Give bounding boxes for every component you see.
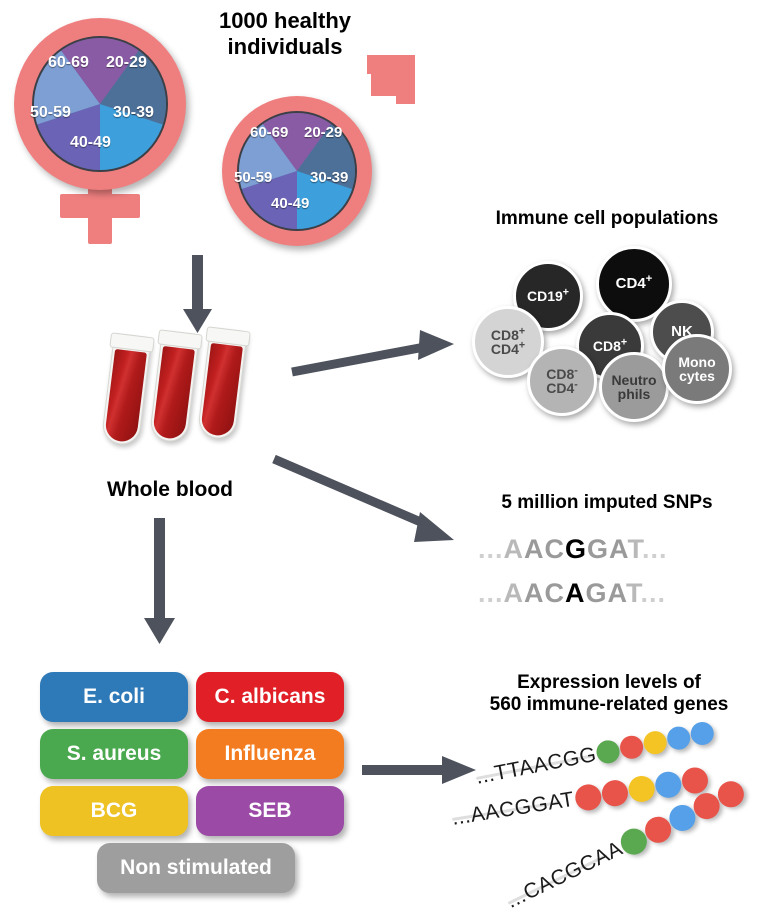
stimulus-pill-non-stimulated[interactable]: Non stimulated — [97, 843, 295, 893]
stimulus-label: BCG — [91, 799, 138, 823]
strand-sequence: ...AACGGAT — [450, 788, 576, 831]
stimulus-label: Influenza — [224, 742, 315, 766]
snp-sequence: ...AACGGAT... — [478, 534, 668, 565]
immune-cell-label: CD8+ — [593, 339, 627, 353]
immune-cell-label: CD8-CD4- — [546, 367, 578, 396]
stimulus-pill-e-coli[interactable]: E. coli — [40, 672, 188, 722]
snp-title: 5 million imputed SNPs — [452, 492, 762, 514]
expression-title: Expression levels of 560 immune-related … — [450, 672, 768, 717]
gene-bead — [573, 783, 603, 813]
gene-bead — [619, 734, 646, 761]
stimulus-pill-influenza[interactable]: Influenza — [196, 729, 344, 779]
gene-strands: ...TTAACGG...AACGGAT...CACGCAA — [452, 730, 771, 910]
stimulus-label: SEB — [248, 799, 291, 823]
stimulus-label: Non stimulated — [120, 856, 272, 880]
immune-cell-label: CD19+ — [527, 289, 569, 303]
immune-cell-label: Monocytes — [678, 355, 715, 384]
gene-bead — [653, 770, 683, 800]
gene-bead — [626, 774, 656, 804]
gene-bead — [642, 729, 669, 756]
immune-cell-cd8-cd4: CD8-CD4- — [527, 346, 597, 416]
stimulus-pill-bcg[interactable]: BCG — [40, 786, 188, 836]
diagram-canvas: 1000 healthy individuals 20-29 30-39 40-… — [0, 0, 771, 922]
stimulus-pill-seb[interactable]: SEB — [196, 786, 344, 836]
immune-cell-label: Neutrophils — [611, 373, 656, 402]
snp-sequence: ...AACAGAT... — [478, 578, 666, 609]
stimulus-pill-c-albicans[interactable]: C. albicans — [196, 672, 344, 722]
snp-sequences: ...AACGGAT......AACAGAT... — [478, 534, 758, 624]
gene-bead — [689, 720, 716, 747]
gene-bead — [666, 725, 693, 752]
stimulus-label: E. coli — [83, 685, 145, 709]
immune-cell-label: CD4+ — [616, 276, 653, 291]
immune-cell-label: CD8+CD4+ — [491, 328, 525, 357]
stimulus-label: S. aureus — [67, 742, 162, 766]
gene-bead — [600, 778, 630, 808]
strand-sequence: ...CACGCAA — [503, 837, 627, 914]
strand-sequence: ...TTAACGG — [474, 742, 599, 789]
immune-cell-neutrophils: Neutrophils — [599, 352, 669, 422]
immune-cell-monocytes: Monocytes — [662, 334, 732, 404]
stimulus-pill-s-aureus[interactable]: S. aureus — [40, 729, 188, 779]
gene-bead — [595, 738, 622, 765]
stimulus-label: C. albicans — [215, 685, 326, 709]
stimuli-panel: E. coliC. albicansS. aureusInfluenzaBCGS… — [40, 672, 360, 902]
